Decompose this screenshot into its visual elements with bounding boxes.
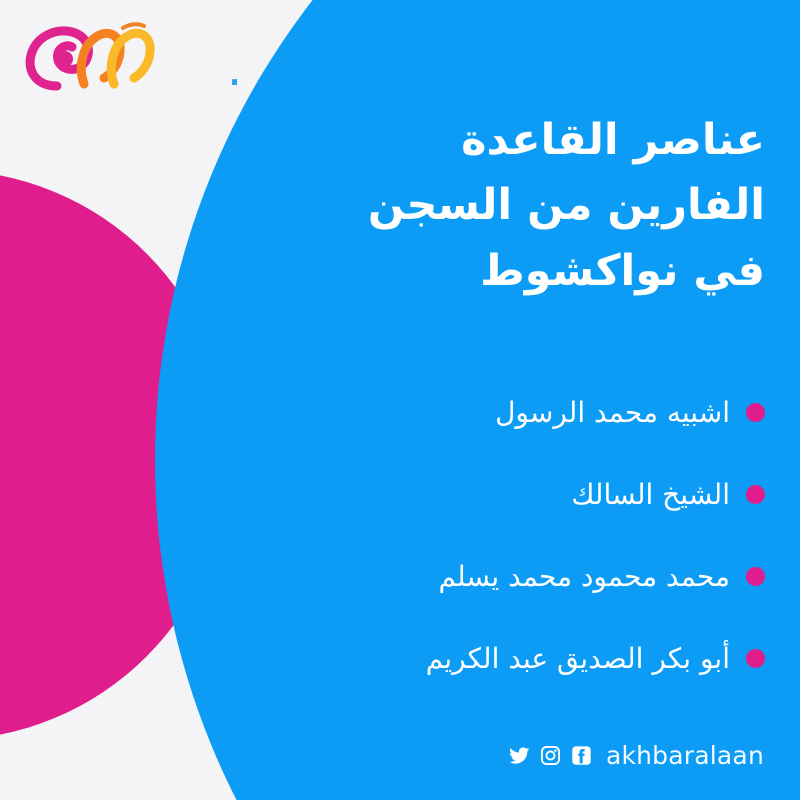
instagram-icon[interactable] [540, 745, 561, 766]
list-item: أبو بكر الصديق عبد الكريم [205, 628, 765, 688]
headline-line-3: في نواكشوط [245, 239, 765, 304]
bullet-dot-icon [746, 567, 765, 586]
list-item: محمد محمود محمد يسلم [205, 546, 765, 606]
headline-line-2: الفارين من السجن [245, 173, 765, 238]
logo-dot [57, 51, 73, 67]
list-item: اشبيه محمد الرسول [205, 382, 765, 442]
logo-wordmark: أخبار [232, 28, 237, 85]
headline: عناصر القاعدة الفارين من السجن في نواكشو… [245, 108, 765, 304]
facebook-icon[interactable] [571, 745, 592, 766]
bullet-dot-icon [746, 485, 765, 504]
social-footer: akhbaralaan [509, 743, 764, 768]
bullet-dot-icon [746, 403, 765, 422]
logo-swirl-mark [30, 24, 150, 86]
twitter-icon[interactable] [509, 745, 530, 766]
list-item: الشيخ السالك [205, 464, 765, 524]
bullet-dot-icon [746, 649, 765, 668]
list-item-label: محمد محمود محمد يسلم [439, 559, 730, 594]
headline-line-1: عناصر القاعدة [245, 108, 765, 173]
escapee-name-list: اشبيه محمد الرسول الشيخ السالك محمد محمو… [205, 382, 765, 710]
list-item-label: أبو بكر الصديق عبد الكريم [426, 641, 730, 676]
list-item-label: الشيخ السالك [571, 477, 730, 512]
social-handle[interactable]: akhbaralaan [606, 743, 764, 768]
list-item-label: اشبيه محمد الرسول [495, 395, 730, 430]
infographic-card: أخبار عناصر القاعدة الفارين من السجن في … [0, 0, 800, 800]
akhbar-aan-logo[interactable]: أخبار [22, 18, 237, 92]
